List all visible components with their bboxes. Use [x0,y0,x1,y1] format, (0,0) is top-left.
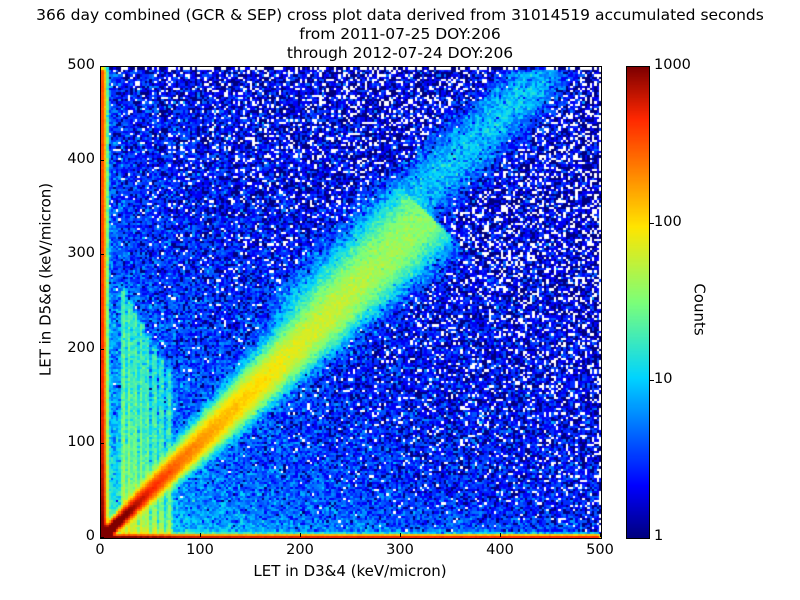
x-tick-mark [300,533,301,537]
y-tick-mark [100,349,104,350]
x-tick-mark [400,533,401,537]
colorbar-tick-label: 100 [654,214,682,230]
y-tick-label: 0 [35,528,95,544]
colorbar-label: Counts [691,283,709,335]
x-tick-mark [200,533,201,537]
figure-canvas: 366 day combined (GCR & SEP) cross plot … [0,0,800,600]
colorbar-gradient [627,67,649,538]
y-tick-mark [100,443,104,444]
y-tick-mark [100,254,104,255]
x-tick-mark [500,533,501,537]
colorbar-tick-label: 1 [654,528,663,544]
colorbar-tick-label: 1000 [654,57,691,73]
x-tick-label: 300 [370,542,430,558]
x-tick-label: 100 [170,542,230,558]
x-tick-mark [600,533,601,537]
colorbar-tick-label: 10 [654,371,672,387]
y-axis-label-wrapper: LET in D5&6 (keV/micron) [36,80,55,480]
plot-area [100,66,602,539]
density-heatmap [101,67,601,538]
x-tick-label: 200 [270,542,330,558]
colorbar [626,66,650,539]
colorbar-label-wrapper: Counts [691,210,710,410]
title-line-1: 366 day combined (GCR & SEP) cross plot … [0,6,800,25]
x-tick-label: 400 [470,542,530,558]
y-axis-label: LET in D5&6 (keV/micron) [37,183,55,376]
y-tick-label: 500 [35,57,95,73]
title-line-2: from 2011-07-25 DOY:206 [0,25,800,44]
x-axis-label: LET in D3&4 (keV/micron) [100,562,600,580]
y-tick-mark [100,66,104,67]
y-tick-mark [100,537,104,538]
chart-title: 366 day combined (GCR & SEP) cross plot … [0,6,800,63]
x-tick-label: 500 [570,542,630,558]
y-tick-mark [100,160,104,161]
